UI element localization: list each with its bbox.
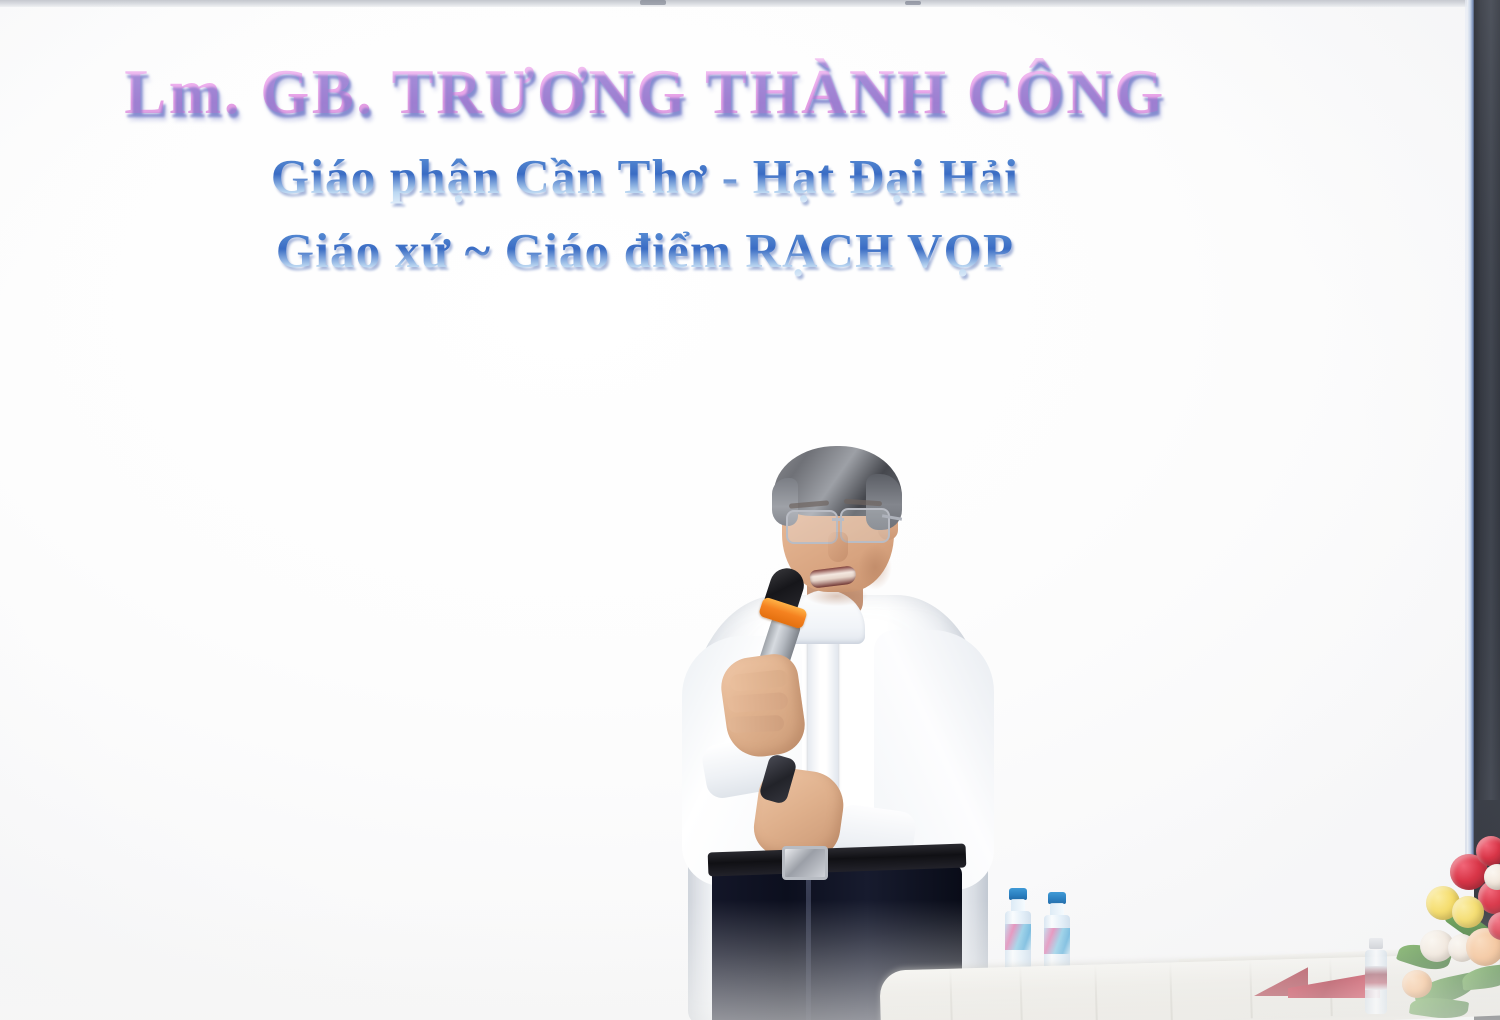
slide-subtitle-diocese: Giáo phận Cần Thơ - Hạt Đại Hải	[0, 130, 1290, 206]
screen-edge-mark-right	[905, 1, 921, 5]
wall-edge-highlight	[1467, 0, 1474, 870]
projection-screen-top-edge	[0, 0, 1480, 7]
trouser-crease	[806, 872, 811, 1020]
tablecloth-pleat	[1249, 960, 1253, 1018]
tablecloth-pleat	[949, 969, 953, 1020]
bouquet-leaf	[1461, 963, 1500, 991]
bouquet-flower-yellow	[1452, 896, 1484, 928]
photo-scene: Lm. GB. TRƯƠNG THÀNH CÔNG Giáo phận Cần …	[0, 0, 1500, 1020]
tablecloth-pleat	[1169, 963, 1173, 1020]
flower-bouquet	[1392, 820, 1500, 1020]
cheek-shadow	[858, 544, 892, 590]
screen-edge-mark-left	[640, 0, 666, 5]
small-clear-bottle	[1364, 938, 1388, 1014]
finger-lower	[728, 715, 785, 733]
tablecloth-pleat	[1094, 965, 1098, 1020]
nose	[828, 532, 848, 562]
bottle-label	[1005, 924, 1031, 950]
slide-subtitle-parish: Giáo xứ ~ Giáo điểm RẠCH VỌP	[0, 206, 1290, 280]
dark-wall-edge	[1474, 0, 1500, 830]
chin-shadow	[806, 586, 868, 606]
bouquet-flower-red	[1476, 836, 1500, 866]
slide-title-block: Lm. GB. TRƯƠNG THÀNH CÔNG Giáo phận Cần …	[0, 58, 1290, 280]
bouquet-flower-peach	[1402, 970, 1432, 998]
tablecloth-pleat	[1019, 967, 1023, 1020]
bottle-label	[1044, 928, 1070, 954]
slide-title-priest-name: Lm. GB. TRƯƠNG THÀNH CÔNG	[0, 58, 1290, 130]
small-bottle-cap	[1369, 938, 1383, 949]
eyeglasses-bridge	[832, 518, 844, 521]
belt-buckle	[782, 846, 828, 880]
speaker-priest	[660, 440, 1030, 1020]
small-bottle-label	[1365, 966, 1387, 990]
